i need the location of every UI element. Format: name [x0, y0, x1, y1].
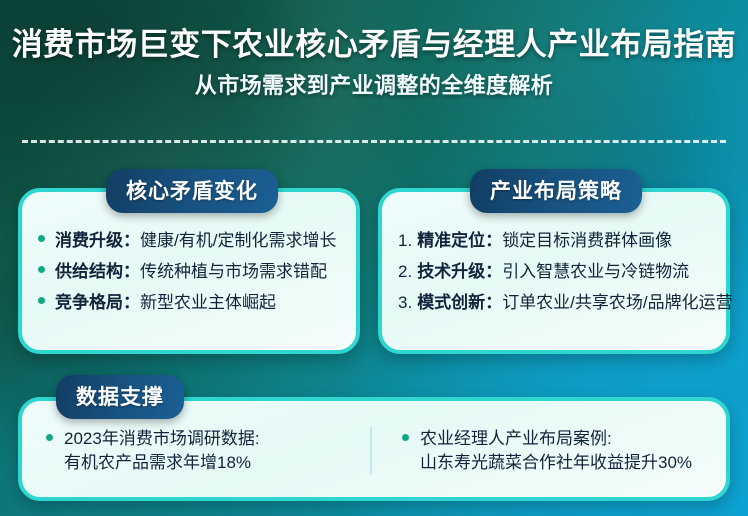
data-column-survey: 2023年消费市场调研数据: 有机农产品需求年增18% — [22, 427, 370, 475]
card-badge-data-support: 数据支撑 — [56, 375, 184, 419]
data-column-text: 2023年消费市场调研数据: 有机农产品需求年增18% — [64, 427, 260, 475]
list-item: 3. 模式创新：订单农业/共享农场/品牌化运营 — [398, 292, 714, 314]
list-marker-number: 2. — [398, 261, 412, 283]
card-badge-strategy: 产业布局策略 — [470, 169, 642, 213]
bullet-dot-icon — [38, 266, 45, 273]
list-item-text: 竞争格局：新型农业主体崛起 — [55, 292, 276, 314]
data-line-2: 有机农产品需求年增18% — [64, 451, 260, 475]
list-item-text: 消费升级：健康/有机/定制化需求增长 — [55, 230, 336, 252]
list-item-text: 模式创新：订单农业/共享农场/品牌化运营 — [417, 292, 732, 314]
bullet-dot-icon — [46, 434, 53, 441]
list-item-text: 技术升级：引入智慧农业与冷链物流 — [417, 261, 689, 283]
core-list: 消费升级：健康/有机/定制化需求增长 供给结构：传统种植与市场需求错配 竞争格局… — [38, 230, 344, 313]
list-item-text: 精准定位：锁定目标消费群体画像 — [417, 230, 672, 252]
list-item: 2. 技术升级：引入智慧农业与冷链物流 — [398, 261, 714, 283]
list-item: 供给结构：传统种植与市场需求错配 — [38, 261, 344, 283]
list-marker-number: 1. — [398, 230, 412, 252]
bullet-dot-icon — [402, 434, 409, 441]
header-dashed-divider — [22, 140, 726, 143]
page-subtitle: 从市场需求到产业调整的全维度解析 — [0, 64, 748, 100]
poster-header: 消费市场巨变下农业核心矛盾与经理人产业布局指南 从市场需求到产业调整的全维度解析 — [0, 0, 748, 100]
strategy-list: 1. 精准定位：锁定目标消费群体画像 2. 技术升级：引入智慧农业与冷链物流 3… — [398, 230, 714, 313]
data-line-1: 2023年消费市场调研数据: — [64, 427, 260, 451]
bullet-dot-icon — [38, 235, 45, 242]
data-column-text: 农业经理人产业布局案例: 山东寿光蔬菜合作社年收益提升30% — [420, 427, 692, 475]
infographic-poster: 消费市场巨变下农业核心矛盾与经理人产业布局指南 从市场需求到产业调整的全维度解析… — [0, 0, 748, 516]
data-line-1: 农业经理人产业布局案例: — [420, 427, 692, 451]
data-column-case: 农业经理人产业布局案例: 山东寿光蔬菜合作社年收益提升30% — [370, 427, 726, 475]
list-item-text: 供给结构：传统种植与市场需求错配 — [55, 261, 327, 283]
data-columns: 2023年消费市场调研数据: 有机农产品需求年增18% 农业经理人产业布局案例:… — [22, 427, 726, 475]
list-item: 消费升级：健康/有机/定制化需求增长 — [38, 230, 344, 252]
card-badge-core: 核心矛盾变化 — [106, 169, 278, 213]
list-marker-number: 3. — [398, 292, 412, 314]
bullet-dot-icon — [38, 297, 45, 304]
data-line-2: 山东寿光蔬菜合作社年收益提升30% — [420, 451, 692, 475]
list-item: 竞争格局：新型农业主体崛起 — [38, 292, 344, 314]
page-title: 消费市场巨变下农业核心矛盾与经理人产业布局指南 — [0, 0, 748, 64]
list-item: 1. 精准定位：锁定目标消费群体画像 — [398, 230, 714, 252]
